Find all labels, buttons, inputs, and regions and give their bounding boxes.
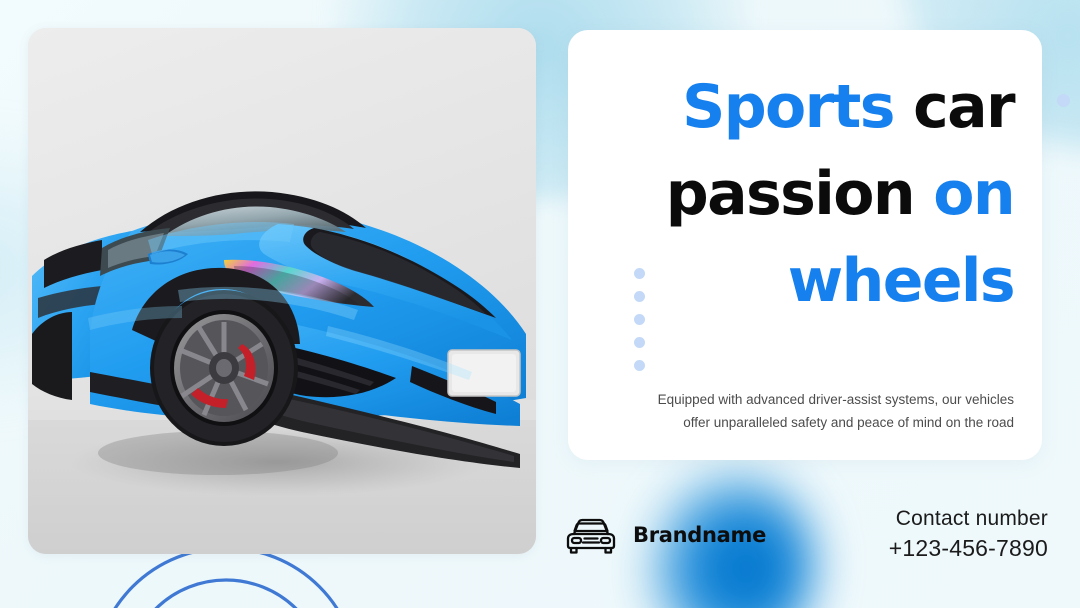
car-photo-image <box>28 28 536 554</box>
headline: Sports car passion on wheels <box>594 64 1014 325</box>
brand-name: Brandname <box>633 523 766 547</box>
contact-block: Contact number +123-456-7890 <box>889 505 1048 564</box>
headline-accent-wheels: wheels <box>788 246 1014 316</box>
headline-line-1: Sports car <box>594 64 1014 151</box>
headline-plain-passion: passion <box>666 159 933 229</box>
headline-accent-on: on <box>933 159 1014 229</box>
contact-number[interactable]: +123-456-7890 <box>889 533 1048 564</box>
headline-line-3: wheels <box>594 238 1014 325</box>
headline-plain-car: car <box>894 72 1014 142</box>
decorative-dot <box>634 291 645 302</box>
decorative-dot <box>634 337 645 348</box>
decorative-dot-right <box>1057 94 1070 107</box>
brand-lockup: Brandname <box>562 514 766 556</box>
headline-line-2: passion on <box>594 151 1014 238</box>
decorative-dot <box>634 314 645 325</box>
car-photo-card <box>28 28 536 554</box>
decorative-dot-column <box>634 268 645 371</box>
decorative-dot <box>634 268 645 279</box>
headline-card: Sports car passion on wheels Equipped wi… <box>568 30 1042 460</box>
contact-label: Contact number <box>889 505 1048 533</box>
body-paragraph: Equipped with advanced driver-assist sys… <box>650 388 1014 434</box>
headline-accent-sports: Sports <box>682 72 894 142</box>
decorative-dot <box>634 360 645 371</box>
car-front-icon <box>562 514 620 556</box>
poster-canvas: Sports car passion on wheels Equipped wi… <box>0 0 1080 608</box>
